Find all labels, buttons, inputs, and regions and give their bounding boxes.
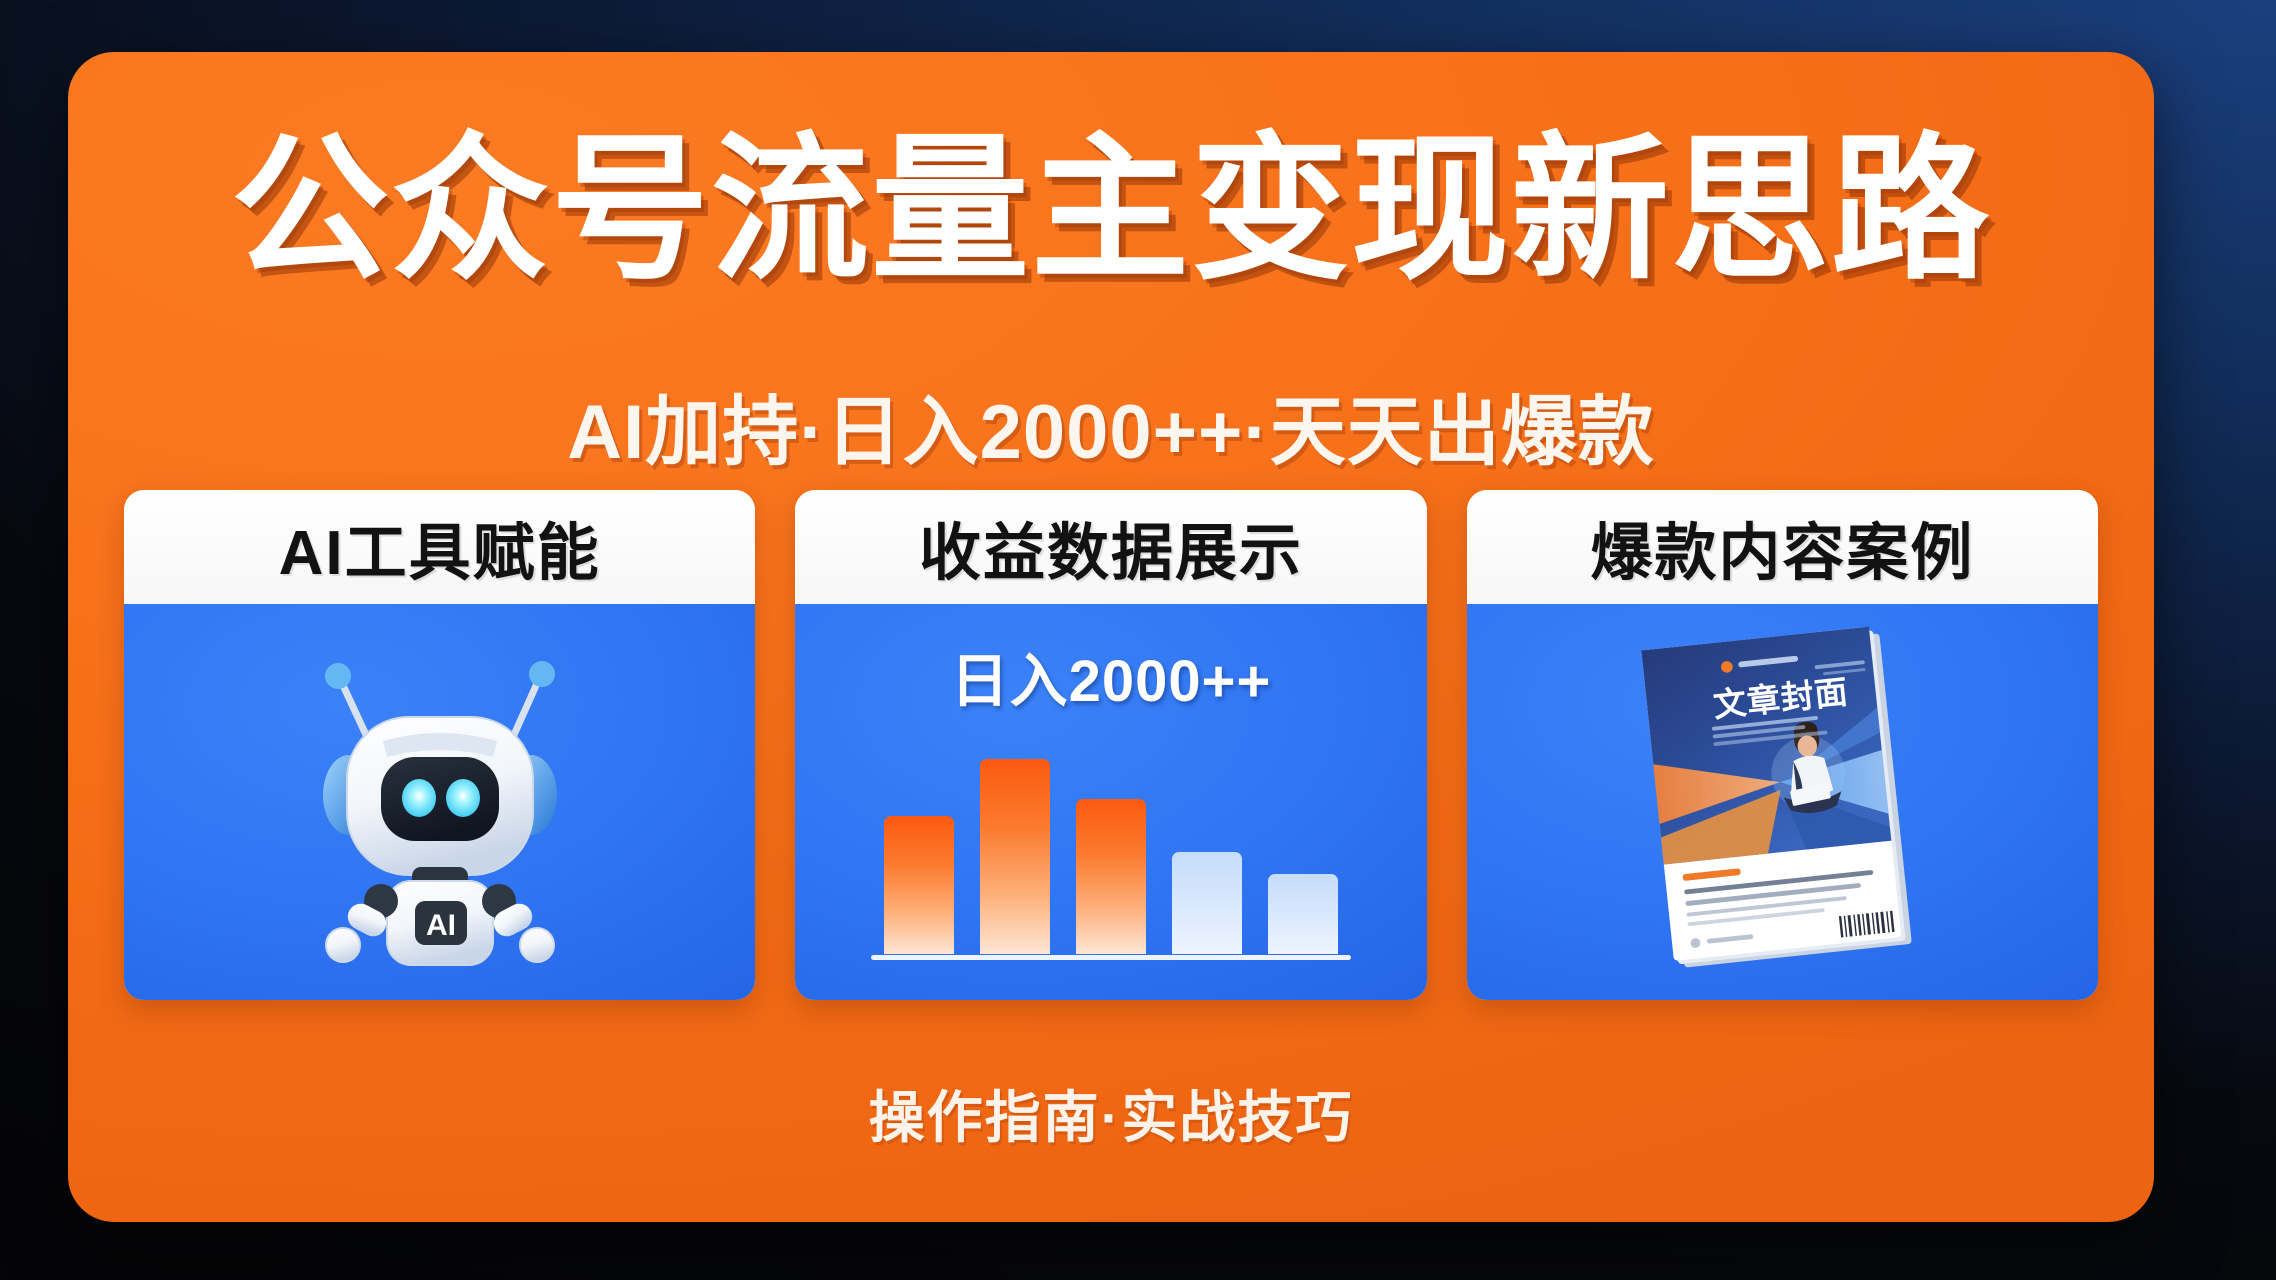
feature-card-revenue[interactable]: 收益数据展示 日入2000++ xyxy=(795,490,1426,1000)
feature-card-ai-tools[interactable]: AI工具赋能 xyxy=(124,490,755,1000)
card-title-cases: 爆款内容案例 xyxy=(1467,490,2098,604)
feature-card-row: AI工具赋能 xyxy=(124,490,2098,1000)
card-title-ai-tools: AI工具赋能 xyxy=(124,490,755,604)
bar-5 xyxy=(1268,874,1338,954)
feature-card-cases[interactable]: 爆款内容案例 xyxy=(1467,490,2098,1000)
page-subtitle: AI加持·日入2000++·天天出爆款 xyxy=(68,370,2154,480)
card-body-cases: 文章封面 xyxy=(1467,604,2098,1000)
poster-panel: 公众号流量主变现新思路 AI加持·日入2000++·天天出爆款 AI工具赋能 xyxy=(68,52,2154,1222)
bar-3 xyxy=(1076,799,1146,954)
bar-chart xyxy=(884,732,1339,954)
svg-text:AI: AI xyxy=(426,909,456,942)
card-body-revenue: 日入2000++ xyxy=(795,604,1426,1000)
page-backdrop: 公众号流量主变现新思路 AI加持·日入2000++·天天出爆款 AI工具赋能 xyxy=(0,0,2276,1280)
chart-axis-line xyxy=(871,955,1351,960)
card-title-revenue: 收益数据展示 xyxy=(795,490,1426,604)
page-title: 公众号流量主变现新思路 xyxy=(68,130,2154,291)
card-body-ai-tools: AI xyxy=(124,604,755,1000)
bar-2 xyxy=(980,759,1050,954)
bar-1 xyxy=(884,816,954,954)
magazine-cover-image: 文章封面 xyxy=(1639,622,1925,982)
page-footer-caption: 操作指南·实战技巧 xyxy=(68,1073,2154,1154)
bar-4 xyxy=(1172,852,1242,954)
robot-icon: AI xyxy=(275,645,605,975)
chart-title: 日入2000++ xyxy=(795,634,1426,718)
